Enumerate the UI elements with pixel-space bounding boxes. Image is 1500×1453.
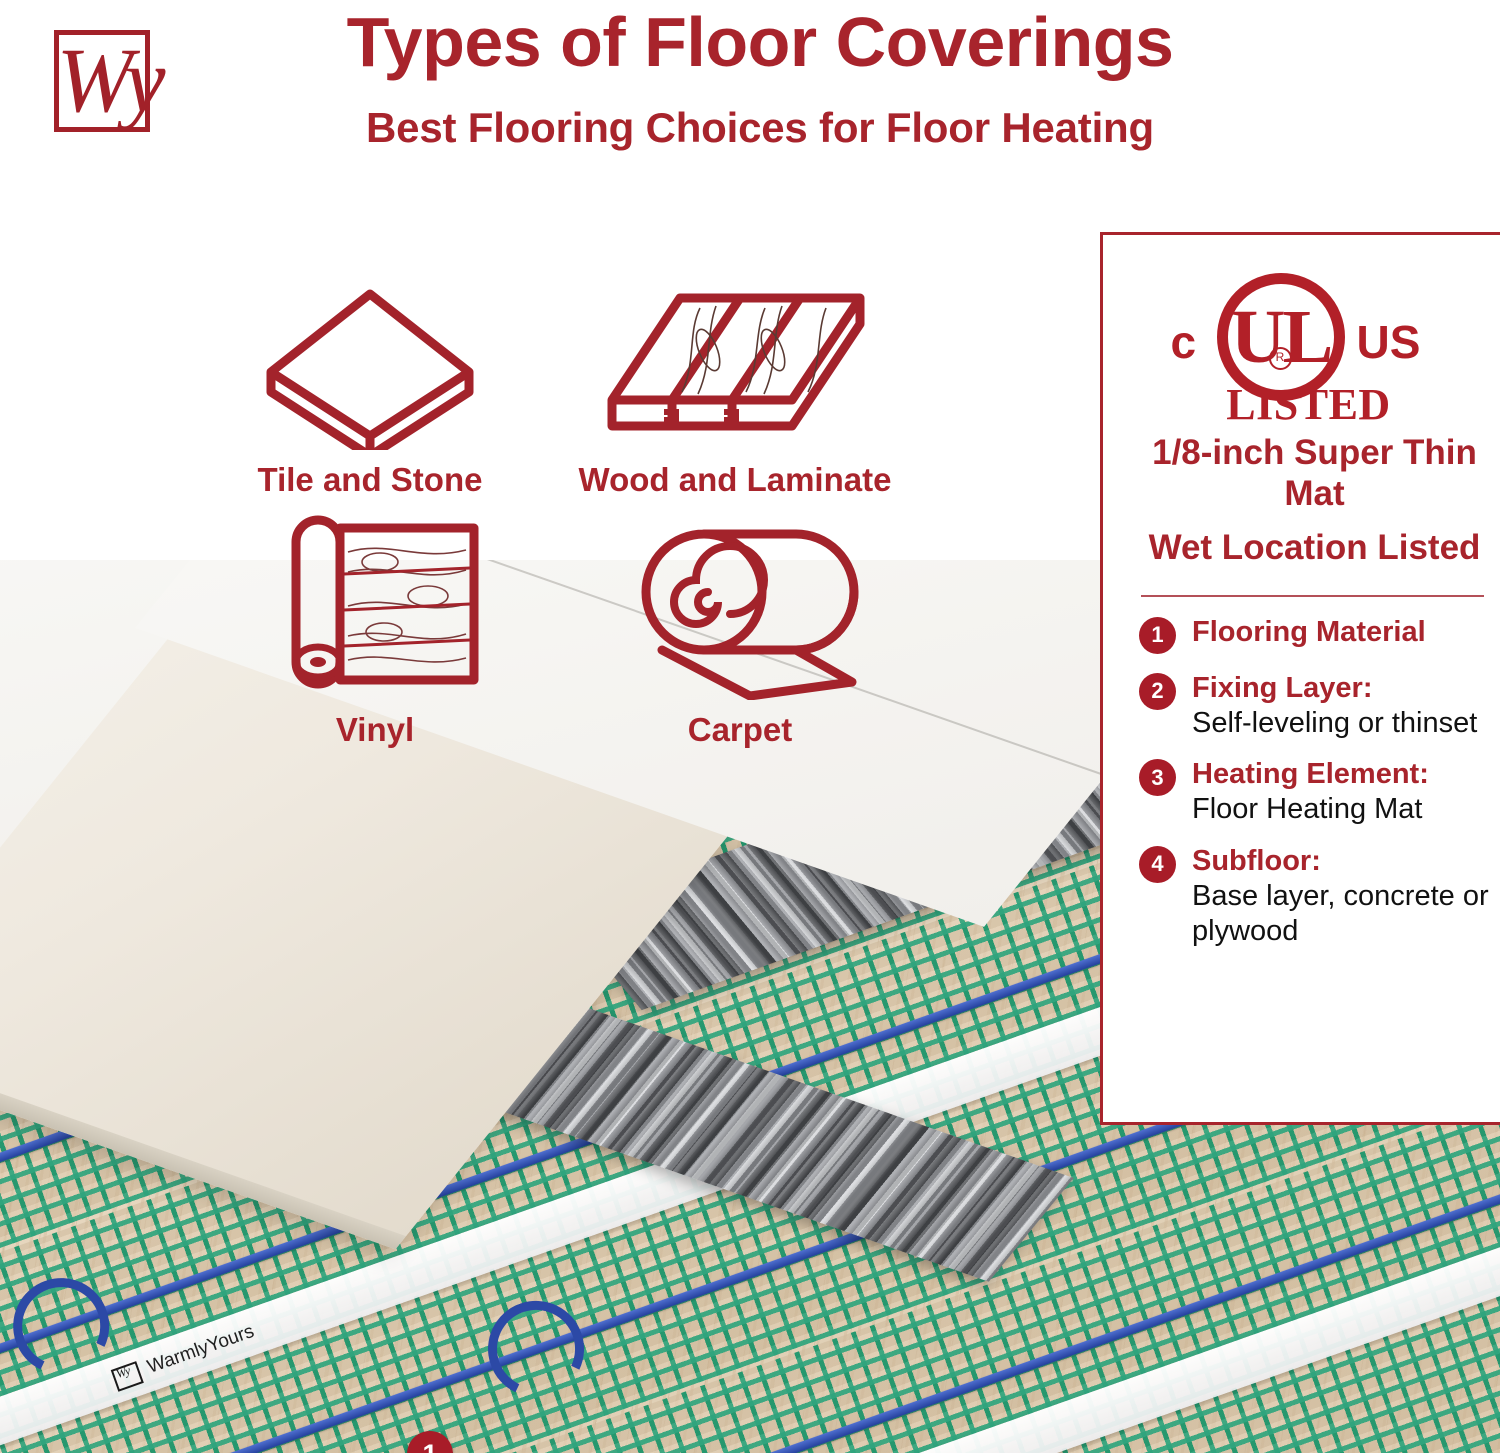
covering-tile-and-stone: Tile and Stone (255, 280, 485, 499)
panel-heading-thin-mat: 1/8-inch Super Thin Mat (1139, 433, 1490, 514)
covering-label: Wood and Laminate (560, 461, 910, 499)
legend-badge-4: 4 (1139, 846, 1176, 883)
header: Wy Types of Floor Coverings Best Floorin… (0, 0, 1500, 200)
panel-divider (1141, 595, 1484, 597)
covering-label: Vinyl (260, 711, 490, 749)
legend-badge-2: 2 (1139, 673, 1176, 710)
covering-label: Carpet (600, 711, 880, 749)
legend-item-4: 4 Subfloor: Base layer, concrete or plyw… (1139, 844, 1490, 948)
legend-desc-4: Base layer, concrete or plywood (1192, 880, 1489, 947)
ul-c-letter: c (1171, 315, 1197, 369)
legend-item-2: 2 Fixing Layer: Self-leveling or thinset (1139, 671, 1490, 741)
legend-item-3: 3 Heating Element: Floor Heating Mat (1139, 757, 1490, 827)
infographic-canvas: WarmlyYours WarmlyYours WarmlyYours 1 2 … (0, 0, 1500, 1453)
vinyl-roll-icon (260, 510, 490, 700)
legend-desc-3: Floor Heating Mat (1192, 793, 1423, 825)
legend-badge-3: 3 (1139, 759, 1176, 796)
legend-title-2: Fixing Layer: (1192, 672, 1373, 704)
page-title: Types of Floor Coverings (170, 6, 1350, 80)
carpet-roll-icon (600, 510, 880, 700)
ul-us-letters: US (1357, 315, 1421, 369)
legend-badge-1: 1 (1139, 617, 1176, 654)
panel-heading-wet-location: Wet Location Listed (1139, 528, 1490, 569)
ul-listed-label: LISTED (1209, 379, 1409, 430)
legend-desc-2: Self-leveling or thinset (1192, 707, 1477, 739)
warmlyyours-logo: Wy (44, 22, 162, 140)
wood-plank-icon (560, 280, 910, 450)
tape-logo-icon (111, 1361, 144, 1392)
legend-item-1: 1 Flooring Material (1139, 615, 1490, 654)
tile-slab-icon (255, 280, 485, 450)
legend-title-4: Subfloor: (1192, 845, 1321, 877)
legend-title-3: Heating Element: (1192, 758, 1429, 790)
covering-vinyl: Vinyl (260, 510, 490, 749)
covering-carpet: Carpet (600, 510, 880, 749)
registered-icon: R (1269, 347, 1292, 370)
logo-monogram: Wy (52, 18, 170, 142)
product-info-panel: c UL R US LISTED 1/8-inch Super Thin Mat… (1100, 232, 1500, 1125)
legend-title-1: Flooring Material (1192, 616, 1426, 648)
ul-listed-mark: c UL R US LISTED (1165, 267, 1465, 417)
page-subtitle: Best Flooring Choices for Floor Heating (170, 104, 1350, 152)
covering-label: Tile and Stone (255, 461, 485, 499)
covering-wood-and-laminate: Wood and Laminate (560, 280, 910, 499)
